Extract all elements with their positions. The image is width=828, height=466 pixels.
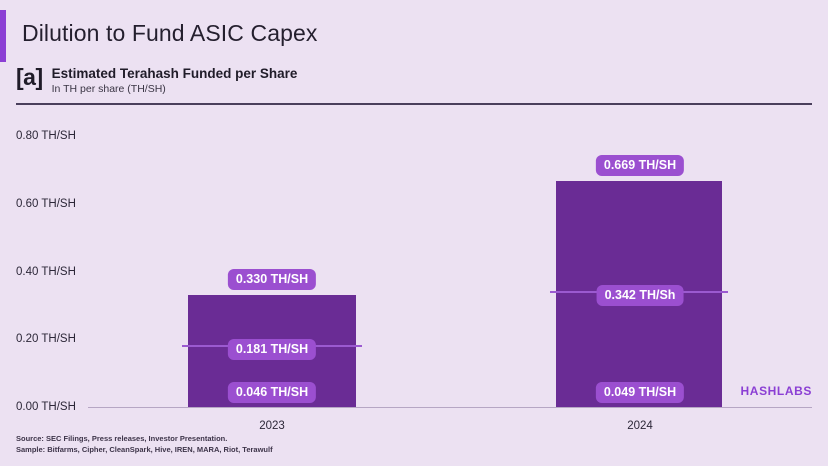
panel-text-group: Estimated Terahash Funded per Share In T… [52,64,298,96]
y-axis-tick-080: 0.80 TH/SH [16,130,76,142]
y-axis-tick-060: 0.60 TH/SH [16,198,76,210]
y-axis-tick-020: 0.20 TH/SH [16,333,76,345]
bar-2024-base-label: 0.049 TH/SH [596,382,684,403]
panel-header: [a] Estimated Terahash Funded per Share … [16,64,297,96]
bar-chart: 0.80 TH/SH 0.60 TH/SH 0.40 TH/SH 0.20 TH… [0,110,828,430]
x-axis-label-2024: 2024 [627,420,653,432]
panel-badge: [a] [16,64,43,90]
bar-2023-mid-label: 0.181 TH/SH [228,339,316,360]
bar-2024-top-label: 0.669 TH/SH [596,155,684,176]
header-accent-bar [0,10,6,62]
hashlabs-logo: HASHLABS [741,384,812,398]
page-title: Dilution to Fund ASIC Capex [22,20,317,47]
header-divider [16,103,812,105]
y-axis-tick-000: 0.00 TH/SH [16,401,76,413]
x-axis-baseline [88,407,812,408]
footnote-sample: Sample: Bitfarms, Cipher, CleanSpark, Hi… [16,445,273,456]
panel-subtitle: Estimated Terahash Funded per Share [52,66,298,81]
footnote-source: Source: SEC Filings, Press releases, Inv… [16,434,273,445]
x-axis-label-2023: 2023 [259,420,285,432]
bar-2023-base-label: 0.046 TH/SH [228,382,316,403]
y-axis-tick-040: 0.40 TH/SH [16,266,76,278]
panel-units: In TH per share (TH/SH) [52,83,298,96]
bar-2023-top-label: 0.330 TH/SH [228,269,316,290]
bar-2024-mid-label: 0.342 TH/Sh [597,285,684,306]
footnotes: Source: SEC Filings, Press releases, Inv… [16,434,273,455]
